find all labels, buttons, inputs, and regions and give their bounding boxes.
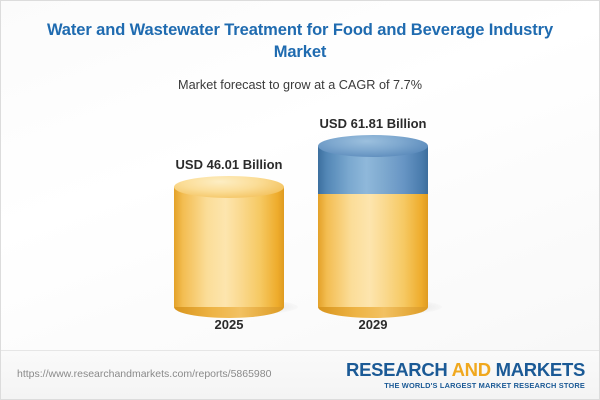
cylinder-top-cap-2025	[174, 176, 284, 198]
source-url-link[interactable]: https://www.researchandmarkets.com/repor…	[17, 368, 271, 380]
cylinder-segment-base-2025	[174, 187, 284, 307]
bar-group-2029: USD 61.81 Billion 2029	[318, 0, 428, 399]
logo-word-and: AND	[452, 359, 491, 380]
cylinder-2029	[318, 146, 428, 307]
cylinder-segment-growth-2029	[318, 146, 428, 194]
bar-group-2025: USD 46.01 Billion 2025	[174, 0, 284, 399]
category-label-2025: 2025	[149, 317, 309, 332]
bar-value-label-2029: USD 61.81 Billion	[263, 116, 483, 131]
footer: https://www.researchandmarkets.com/repor…	[1, 350, 599, 399]
logo-word-markets: MARKETS	[491, 359, 585, 380]
market-forecast-infographic: Water and Wastewater Treatment for Food …	[0, 0, 600, 400]
cylinder-2025	[174, 187, 284, 307]
chart-plot-area: USD 46.01 Billion 2025 USD 61.81 Billion	[1, 1, 599, 399]
bar-value-label-2025: USD 46.01 Billion	[119, 157, 339, 172]
cylinder-body-2025	[174, 187, 284, 307]
cylinder-body-base-2029	[318, 194, 428, 307]
cylinder-top-cap-2029	[318, 135, 428, 157]
research-and-markets-logo[interactable]: RESEARCH AND MARKETS THE WORLD'S LARGEST…	[346, 360, 585, 390]
category-label-2029: 2029	[293, 317, 453, 332]
logo-wordmark: RESEARCH AND MARKETS	[346, 360, 585, 379]
logo-tagline: THE WORLD'S LARGEST MARKET RESEARCH STOR…	[346, 381, 585, 390]
cylinder-segment-base-2029	[318, 194, 428, 307]
logo-word-research: RESEARCH	[346, 359, 452, 380]
